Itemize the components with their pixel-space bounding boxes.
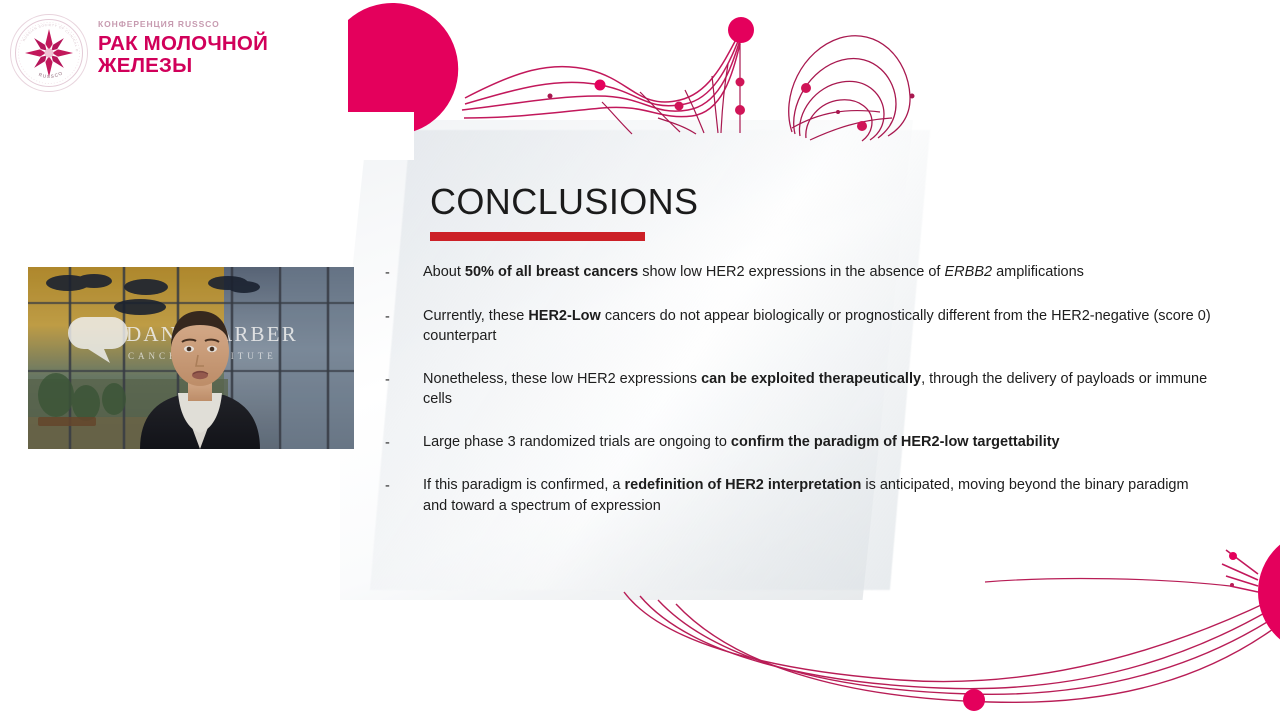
bullet-dash-icon: - [385,306,423,328]
brand-text-block: КОНФЕРЕНЦИЯ RUSSCO РАК МОЛОЧНОЙ ЖЕЛЕЗЫ [98,12,298,77]
brand-title: РАК МОЛОЧНОЙ ЖЕЛЕЗЫ [98,33,298,77]
bullet-dash-icon: - [385,432,423,454]
list-item: -About 50% of all breast cancers show lo… [385,262,1255,284]
bullet-therapeutic-exploitation: Nonetheless, these low HER2 expressions … [423,369,1213,410]
list-item: -Large phase 3 randomized trials are ong… [385,432,1255,454]
page-title: CONCLUSIONS [430,184,698,220]
bullet-her2-prevalence: About 50% of all breast cancers show low… [423,262,1084,283]
bullet-her2-low-prognosis: Currently, these HER2-Low cancers do not… [423,306,1213,347]
conclusions-list: -About 50% of all breast cancers show lo… [385,262,1255,539]
list-item: -Currently, these HER2-Low cancers do no… [385,306,1255,347]
russco-emblem-icon: RUSSCO RUSSIAN SOCIETY OF CLINICAL ONCOL… [10,14,88,92]
conference-branding: RUSSCO RUSSIAN SOCIETY OF CLINICAL ONCOL… [10,12,340,108]
presentation-screen: RUSSCO RUSSIAN SOCIETY OF CLINICAL ONCOL… [0,0,1280,720]
emblem-ring [10,14,88,92]
title-underline-rule [430,232,645,241]
bullet-dash-icon: - [385,475,423,497]
list-item: -If this paradigm is confirmed, a redefi… [385,475,1255,516]
bullet-dash-icon: - [385,262,423,284]
presenter-video-tile[interactable]: DANA-FARBER CANCER INSTITUTE [28,267,354,449]
video-frame: DANA-FARBER CANCER INSTITUTE [28,267,354,449]
bullet-dash-icon: - [385,369,423,391]
brand-kicker: КОНФЕРЕНЦИЯ RUSSCO [98,20,298,29]
bullet-phase-3-trials: Large phase 3 randomized trials are ongo… [423,432,1060,453]
list-item: -Nonetheless, these low HER2 expressions… [385,369,1255,410]
slide-canvas: CONCLUSIONS -About 50% of all breast can… [340,0,1280,720]
bullet-redefinition: If this paradigm is confirmed, a redefin… [423,475,1213,516]
